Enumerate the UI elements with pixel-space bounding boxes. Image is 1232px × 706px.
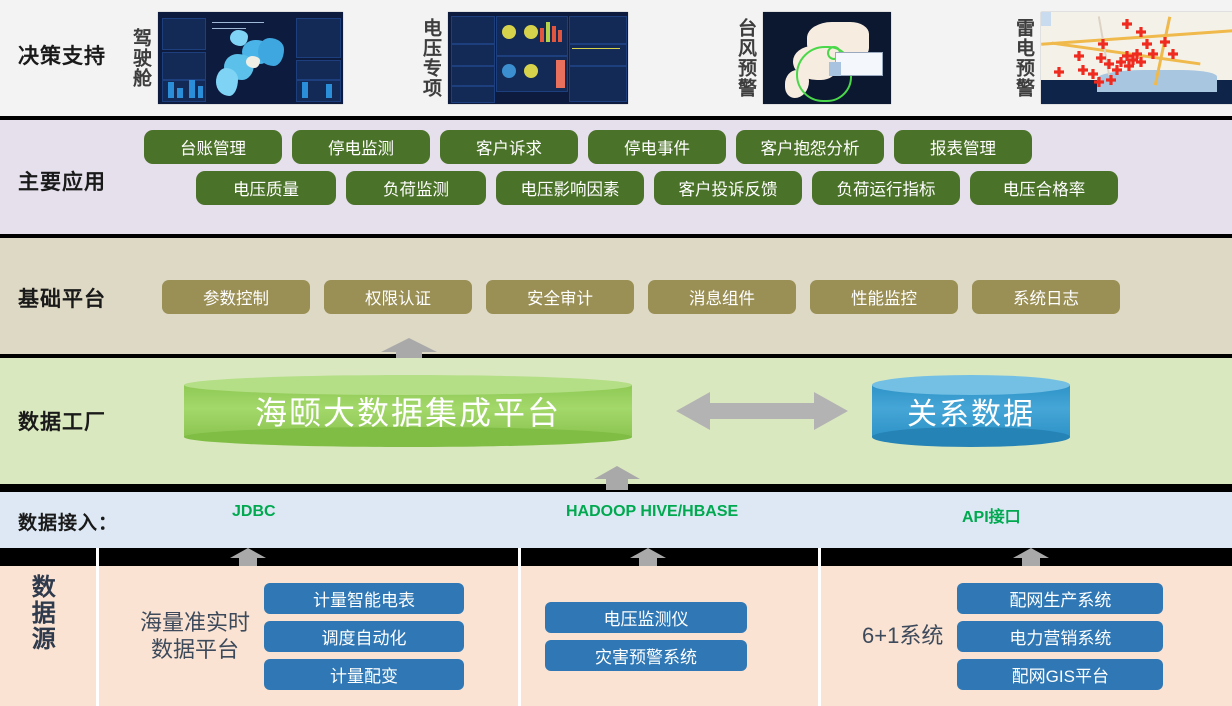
application-pills: 台账管理 停电监测 客户诉求 停电事件 客户抱怨分析 报表管理 电压质量 负荷监… [144,130,1224,212]
foundation-platform-label: 基础平台 [18,283,106,313]
app-pill[interactable]: 停电事件 [588,130,726,164]
source-group-realtime: 海量准实时 数据平台 计量智能电表 调度自动化 计量配变 [140,566,464,706]
source-divider [96,566,99,706]
app-pill[interactable]: 客户诉求 [440,130,578,164]
source-item-stack: 电压监测仪 灾害预警系统 [545,602,747,671]
source-rail [96,548,99,566]
decision-item-label: 电压专项 [420,18,440,98]
cockpit-dashboard-thumbnail[interactable] [158,12,343,104]
decision-item-label: 雷电预警 [1013,18,1033,98]
source-divider [818,566,821,706]
base-pill[interactable]: 安全审计 [486,280,634,314]
main-applications-band: 主要应用 台账管理 停电监测 客户诉求 停电事件 客户抱怨分析 报表管理 电压质… [0,120,1232,234]
typhoon-warning-map-thumbnail[interactable] [763,12,891,104]
source-divider [518,566,521,706]
access-item-api[interactable]: API接口 [962,503,1021,527]
source-group-6plus1: 6+1系统 配网生产系统 电力营销系统 配网GIS平台 [862,566,1163,706]
source-rail [818,548,821,566]
decision-item-cockpit[interactable]: 驾驶舱 [130,0,343,116]
source-rail [518,548,521,566]
app-pill[interactable]: 电压合格率 [970,171,1118,205]
source-item[interactable]: 电压监测仪 [545,602,747,633]
relational-database-cylinder[interactable]: 关系数据 [872,375,1070,447]
app-pill[interactable]: 停电监测 [292,130,430,164]
decision-item-typhoon[interactable]: 台风预警 [735,0,891,116]
application-row-1: 台账管理 停电监测 客户诉求 停电事件 客户抱怨分析 报表管理 [144,130,1224,164]
base-pill[interactable]: 性能监控 [810,280,958,314]
relational-database-label: 关系数据 [907,389,1035,433]
app-pill[interactable]: 电压质量 [196,171,336,205]
source-item[interactable]: 电力营销系统 [957,621,1163,652]
source-item[interactable]: 计量智能电表 [264,583,464,614]
access-item-hadoop[interactable]: HADOOP HIVE/HBASE [566,503,738,521]
source-group-title-line1: 海量准实时 [140,609,250,637]
application-row-2: 电压质量 负荷监测 电压影响因素 客户投诉反馈 负荷运行指标 电压合格率 [196,171,1224,205]
arrow-source3-to-access [1013,548,1049,566]
base-pill[interactable]: 消息组件 [648,280,796,314]
decision-item-voltage[interactable]: 电压专项 [420,0,628,116]
foundation-platform-band: 基础平台 参数控制 权限认证 安全审计 消息组件 性能监控 系统日志 [0,238,1232,354]
big-data-integration-platform-cylinder[interactable]: 海颐大数据集成平台 [184,375,632,447]
big-data-platform-label: 海颐大数据集成平台 [255,388,561,434]
source-item[interactable]: 配网生产系统 [957,583,1163,614]
bidirectional-arrow-icon [676,392,848,430]
architecture-diagram: 决策支持 驾驶舱 [0,0,1232,706]
foundation-pills: 参数控制 权限认证 安全审计 消息组件 性能监控 系统日志 [162,280,1120,314]
voltage-special-dashboard-thumbnail[interactable] [448,12,628,104]
data-source-band: 数据源 海量准实时 数据平台 计量智能电表 调度自动化 计量配变 电压监测仪 灾… [0,566,1232,706]
app-pill[interactable]: 负荷运行指标 [812,171,960,205]
source-item[interactable]: 灾害预警系统 [545,640,747,671]
main-applications-label: 主要应用 [18,166,106,196]
base-pill[interactable]: 系统日志 [972,280,1120,314]
data-factory-label: 数据工厂 [18,406,106,436]
source-item[interactable]: 计量配变 [264,659,464,690]
app-pill[interactable]: 负荷监测 [346,171,486,205]
source-group-title: 海量准实时 数据平台 [140,609,250,664]
app-pill[interactable]: 台账管理 [144,130,282,164]
app-pill[interactable]: 电压影响因素 [496,171,644,205]
arrow-access-to-factory [594,466,640,490]
decision-support-label: 决策支持 [18,40,106,70]
app-pill[interactable]: 报表管理 [894,130,1032,164]
access-item-jdbc[interactable]: JDBC [232,503,276,521]
base-pill[interactable]: 参数控制 [162,280,310,314]
app-pill[interactable]: 客户投诉反馈 [654,171,802,205]
decision-item-lightning[interactable]: 雷电预警 [1013,0,1232,116]
decision-item-label: 驾驶舱 [130,28,150,88]
base-pill[interactable]: 权限认证 [324,280,472,314]
source-group-monitoring: 电压监测仪 灾害预警系统 [545,566,747,706]
decision-item-label: 台风预警 [735,18,755,98]
lightning-warning-map-thumbnail[interactable] [1041,12,1232,104]
source-group-title-line2: 数据平台 [140,636,250,664]
data-source-label: 数据源 [28,574,53,652]
arrow-source1-to-access [230,548,266,566]
decision-support-band: 决策支持 驾驶舱 [0,0,1232,116]
source-item[interactable]: 调度自动化 [264,621,464,652]
source-item-stack: 配网生产系统 电力营销系统 配网GIS平台 [957,583,1163,690]
source-group-title-line1: 6+1系统 [862,622,943,650]
decision-thumbnails: 驾驶舱 [120,0,1232,116]
source-group-title: 6+1系统 [862,622,943,650]
source-item-stack: 计量智能电表 调度自动化 计量配变 [264,583,464,690]
app-pill[interactable]: 客户抱怨分析 [736,130,884,164]
source-item[interactable]: 配网GIS平台 [957,659,1163,690]
data-access-band: 数据接入： JDBC HADOOP HIVE/HBASE API接口 [0,492,1232,548]
data-access-label: 数据接入： [18,508,118,535]
arrow-source2-to-access [630,548,666,566]
